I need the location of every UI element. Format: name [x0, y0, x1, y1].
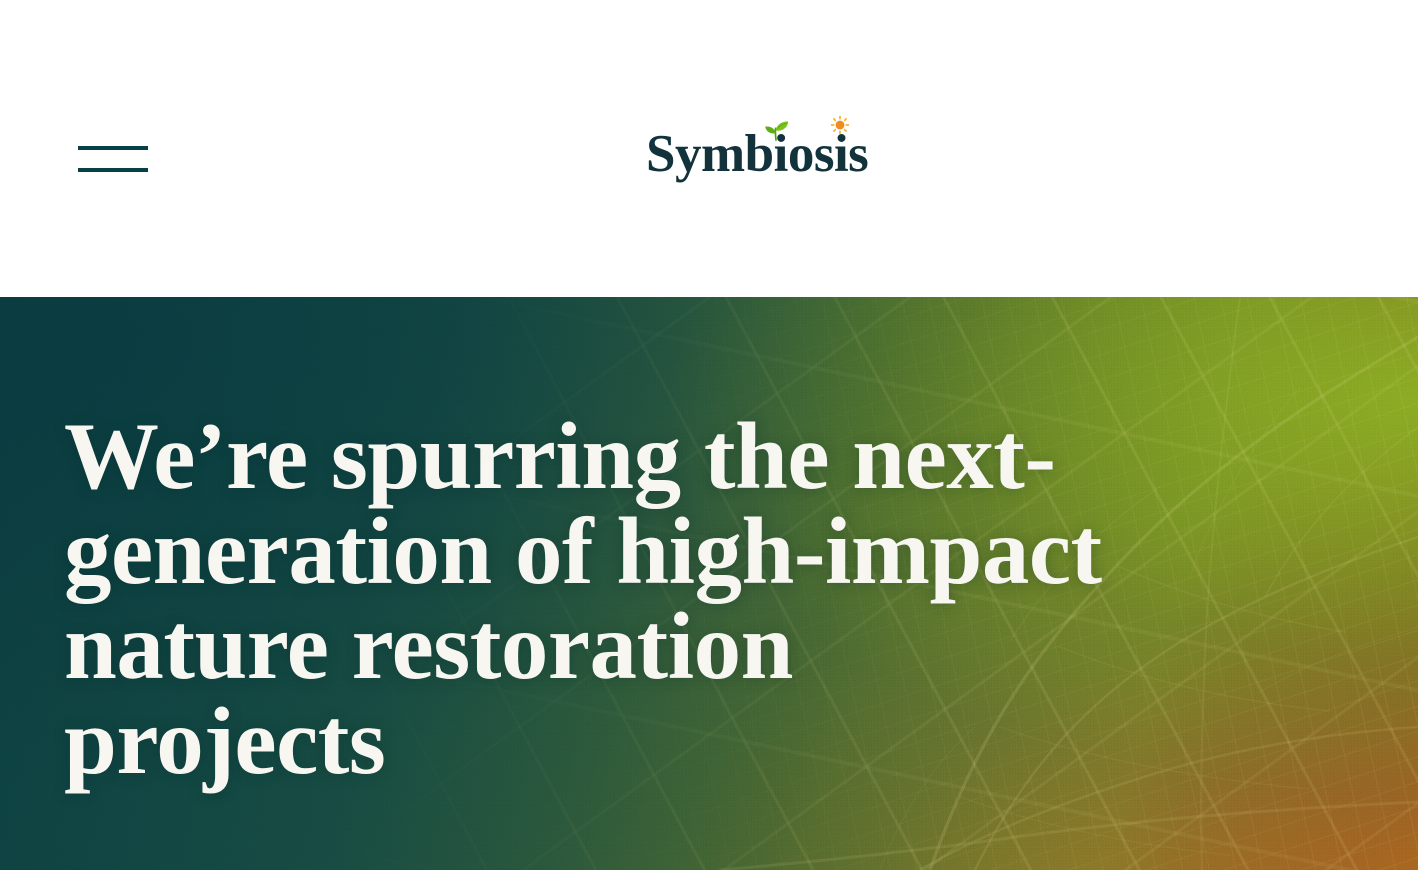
- sun-icon: [831, 116, 849, 134]
- brand-logo-link[interactable]: Symbiosis: [646, 126, 868, 182]
- site-header: Symbiosis: [0, 0, 1418, 297]
- hero-headline: We’re spurring the next-generation of hi…: [64, 409, 1124, 789]
- hero-section: We’re spurring the next-generation of hi…: [0, 297, 1418, 870]
- hamburger-icon-line-bottom: [78, 168, 148, 172]
- hamburger-icon-line-top: [78, 146, 148, 150]
- hero-content: We’re spurring the next-generation of hi…: [64, 409, 1124, 789]
- hamburger-menu-button[interactable]: [78, 138, 150, 182]
- brand-wordmark: Symbiosis: [646, 126, 868, 182]
- page-root: Symbiosis: [0, 0, 1418, 870]
- leaf-sprout-icon: [763, 119, 789, 141]
